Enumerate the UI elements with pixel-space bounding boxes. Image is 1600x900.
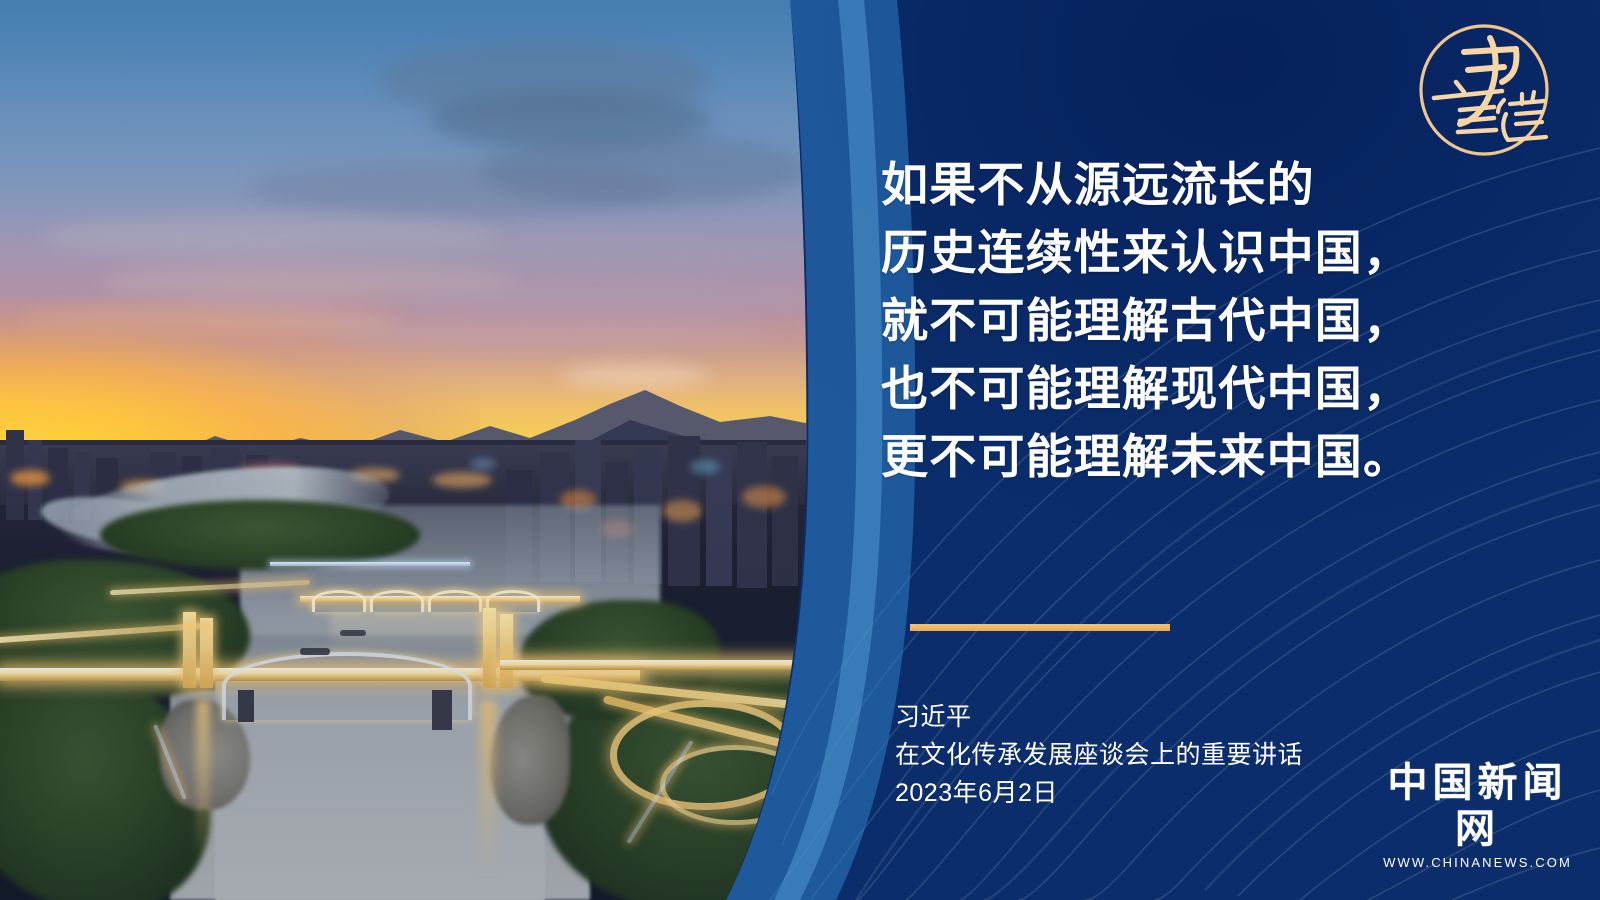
publisher-name: 中国新闻网	[1370, 760, 1585, 852]
xi-yan-dao-logo	[1398, 18, 1570, 164]
publisher-url: WWW.CHINANEWS.COM	[1370, 855, 1585, 870]
poster-root: 如果不从源远流长的 历史连续性来认识中国， 就不可能理解古代中国， 也不可能理解…	[0, 0, 1600, 900]
quote-line-3: 就不可能理解古代中国，	[881, 288, 1571, 356]
attribution-occasion: 在文化传承发展座谈会上的重要讲话	[895, 736, 1303, 774]
attribution-date: 2023年6月2日	[895, 774, 1303, 812]
quote-line-5: 更不可能理解未来中国。	[881, 424, 1571, 492]
quote-line-2: 历史连续性来认识中国，	[881, 220, 1571, 288]
quote-line-1: 如果不从源远流长的	[881, 152, 1571, 220]
publisher-logo: 中国新闻网 WWW.CHINANEWS.COM	[1370, 760, 1585, 870]
attribution-speaker: 习近平	[895, 698, 1303, 736]
attribution-block: 习近平 在文化传承发展座谈会上的重要讲话 2023年6月2日	[895, 698, 1303, 812]
quote-block: 如果不从源远流长的 历史连续性来认识中国， 就不可能理解古代中国， 也不可能理解…	[881, 152, 1571, 492]
photo-grade	[0, 0, 830, 900]
photo-aerial-night-cityscape	[0, 0, 830, 900]
quote-line-4: 也不可能理解现代中国，	[881, 356, 1571, 424]
gold-divider	[910, 624, 1170, 631]
